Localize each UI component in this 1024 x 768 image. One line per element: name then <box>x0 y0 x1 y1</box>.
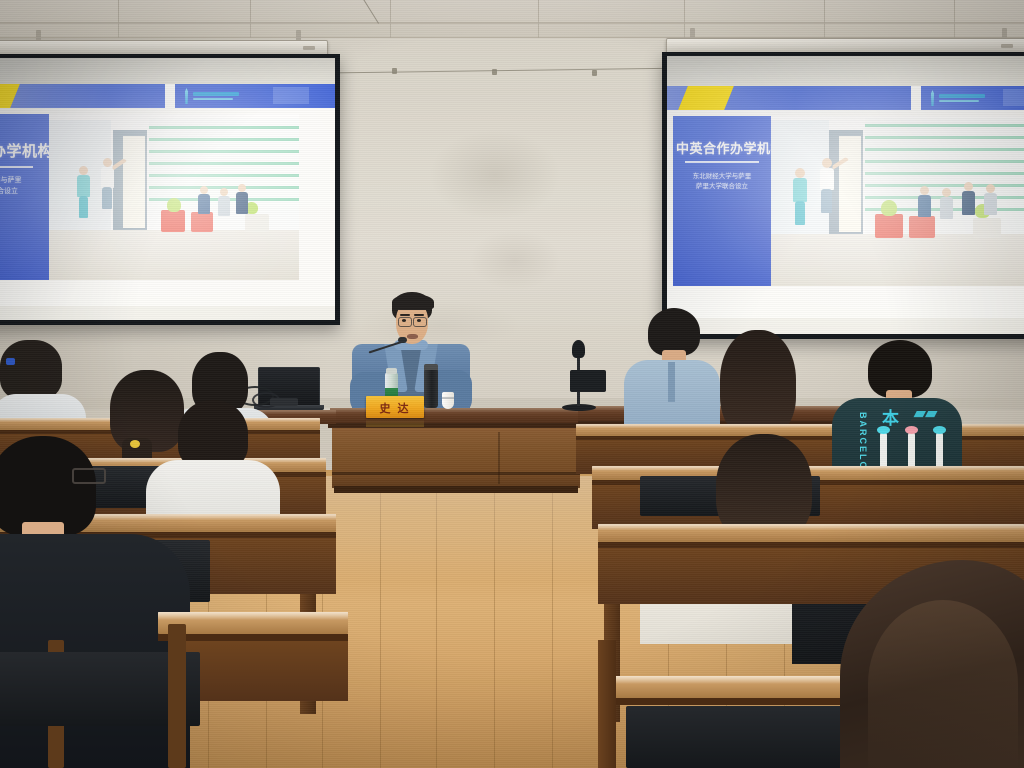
lecture-hall-photo: 中英合作办学机构 东北财经大学与萨里 萨里大学联合设立 <box>0 0 1024 768</box>
ceiling-grid-line <box>0 22 1024 24</box>
speaker-brow <box>414 314 424 316</box>
logo-text-line <box>939 100 979 102</box>
figure-head <box>942 188 951 197</box>
speaker-mouth <box>407 334 418 339</box>
figure-body <box>218 196 230 216</box>
ceiling-tile <box>538 0 685 40</box>
tee-graphic: ▰▰ <box>914 404 937 422</box>
figure-legs <box>795 201 805 225</box>
figure-body <box>77 175 90 197</box>
illustration-podium <box>875 214 903 238</box>
figure-head <box>795 168 805 178</box>
library-exhibition-illustration <box>771 116 1024 286</box>
speaker-eye <box>402 319 406 322</box>
figure-legs <box>821 189 832 213</box>
hair <box>648 308 700 356</box>
desk-leg <box>598 640 616 768</box>
slide-right: 中英合作办学机构 东北财经大学与萨里 萨里大学联合设立 <box>667 86 1024 318</box>
slide-title-rule <box>685 161 759 163</box>
speaker-eye <box>417 319 421 322</box>
shelf-row <box>865 148 1024 151</box>
illustration-door-opening <box>839 136 861 232</box>
ceiling-tile <box>954 0 1024 40</box>
figure-body <box>198 194 210 214</box>
illustration-podium <box>973 218 1001 238</box>
shelf-row <box>865 124 1024 127</box>
shelf-row <box>149 126 299 129</box>
library-exhibition-illustration <box>49 114 299 280</box>
slide-corner-chip <box>1003 89 1024 106</box>
slide-band-gap <box>911 86 921 110</box>
ceiling-tile <box>684 0 825 40</box>
figure-body <box>793 178 807 202</box>
logo-text-line <box>939 94 985 98</box>
figure-body <box>962 191 975 215</box>
chair-seat-back <box>626 706 846 768</box>
cable-clip <box>492 69 497 75</box>
ceiling-tile <box>390 0 539 40</box>
thermos-flask <box>424 368 438 408</box>
figure-head <box>79 166 88 175</box>
illustration-plant <box>167 198 181 212</box>
slide-subtitle-line1: 东北财经大学与萨里 <box>673 172 771 181</box>
figure-head <box>238 184 246 192</box>
shelf-row <box>149 150 299 153</box>
tee-figure-head <box>877 426 890 434</box>
shelf-row <box>149 174 299 177</box>
slide-subtitle-line1: 东北财经大学与萨里 <box>0 176 49 186</box>
tee <box>0 534 190 768</box>
desk-top-highlight <box>158 612 348 620</box>
logo-wordmark <box>939 94 985 102</box>
nameplate-reflection <box>366 418 424 427</box>
logo-mark-icon <box>929 90 936 106</box>
figure-head <box>220 188 228 196</box>
figure-body <box>236 192 248 214</box>
logo-text-line <box>193 98 233 100</box>
slide-title: 中英合作办学机构 <box>676 138 784 157</box>
figure-head <box>200 186 208 194</box>
cable-clip <box>392 68 397 74</box>
speaker-nameplate: 史 达 <box>366 396 424 418</box>
figure-body <box>984 193 997 215</box>
figure-head <box>822 158 832 168</box>
ceiling-tile <box>824 0 955 40</box>
wall-mark <box>470 230 560 290</box>
desk-top-highlight <box>614 676 864 684</box>
projector-screen-left: 中英合作办学机构 东北财经大学与萨里 萨里大学联合设立 <box>0 54 340 325</box>
illustration-floor <box>49 230 299 280</box>
head-table-front-panel <box>332 428 580 488</box>
microphone-head <box>572 340 585 358</box>
screen-top-strip <box>667 56 1024 86</box>
logo-wordmark <box>193 92 239 100</box>
logo-text-line <box>193 92 239 96</box>
cup-band <box>442 397 454 399</box>
nameplate-text: 史 达 <box>366 400 424 416</box>
ceiling-tile <box>0 0 119 40</box>
slide-left: 中英合作办学机构 东北财经大学与萨里 萨里大学联合设立 <box>0 84 335 306</box>
glasses <box>72 468 106 484</box>
ceiling-tile <box>250 0 391 40</box>
slide-subtitle-line2: 萨里大学联合设立 <box>673 182 771 191</box>
shelf-row <box>865 172 1024 175</box>
slide-accent-shape <box>678 86 734 110</box>
chair-frame <box>168 624 186 768</box>
hair <box>720 330 796 438</box>
shelf-row <box>865 160 1024 163</box>
figure-body <box>101 167 114 188</box>
university-logo <box>183 88 239 104</box>
projector-screen-right: 中英合作办学机构 东北财经大学与萨里 萨里大学联合设立 <box>662 52 1024 339</box>
tee-figure-head <box>933 426 946 434</box>
desk-edge <box>614 698 864 705</box>
shelf-row <box>865 136 1024 139</box>
desk-top-highlight <box>598 524 1024 530</box>
wall-mark <box>430 130 560 220</box>
paper-cup <box>442 392 454 409</box>
figure-body <box>820 168 834 190</box>
bottle-cap <box>386 368 397 374</box>
figure-legs <box>102 187 112 209</box>
ceiling-tile <box>118 0 251 40</box>
microphone-capsule <box>398 337 407 343</box>
university-logo <box>929 90 985 106</box>
slide-corner-chip <box>273 87 309 104</box>
slide-title-panel: 中英合作办学机构 东北财经大学与萨里 萨里大学联合设立 <box>673 116 771 286</box>
figure-head <box>103 158 112 167</box>
figure-head <box>920 186 929 195</box>
illustration-plant <box>881 200 897 216</box>
illustration-podium <box>191 212 213 232</box>
slide-title-rule <box>0 166 33 168</box>
shirt-placket <box>668 362 675 402</box>
shelf-row <box>149 138 299 141</box>
cable-clip <box>592 70 597 76</box>
thermos-cap <box>424 364 438 370</box>
speaker-hair <box>392 294 434 310</box>
student-long-hair-foreground-right <box>840 560 1024 768</box>
figure-head <box>964 182 973 191</box>
figure-body <box>940 197 953 219</box>
illustration-podium <box>161 210 185 232</box>
panel-seam <box>498 432 500 484</box>
illustration-floor <box>771 234 1024 286</box>
figure-head <box>986 184 995 193</box>
shelf-row <box>865 184 1024 187</box>
floor-light-reflection <box>300 476 630 626</box>
desk-edge <box>158 634 348 641</box>
logo-mark-icon <box>183 88 190 104</box>
slide-band-gap <box>165 84 175 108</box>
illustration-podium <box>909 216 935 238</box>
hair <box>0 340 62 400</box>
panel-seam <box>332 472 580 475</box>
slide-subtitle-line2: 萨里大学联合设立 <box>0 187 49 197</box>
figure-legs <box>79 196 88 218</box>
desk-panel <box>176 641 348 701</box>
shelf-row <box>149 162 299 165</box>
slide-title-panel: 中英合作办学机构 东北财经大学与萨里 萨里大学联合设立 <box>0 114 49 280</box>
hair-highlight <box>868 600 1018 768</box>
illustration-door-opening <box>123 136 145 228</box>
hair-clip <box>6 358 15 365</box>
slide-title: 中英合作办学机构 <box>0 140 53 161</box>
speaker-brow <box>400 314 410 316</box>
microphone-stand-box <box>570 370 606 392</box>
illustration-podium <box>245 214 269 232</box>
hair <box>0 436 96 536</box>
figure-body <box>918 195 931 217</box>
tee-figure-head <box>905 426 918 434</box>
head-table-base <box>334 486 578 493</box>
